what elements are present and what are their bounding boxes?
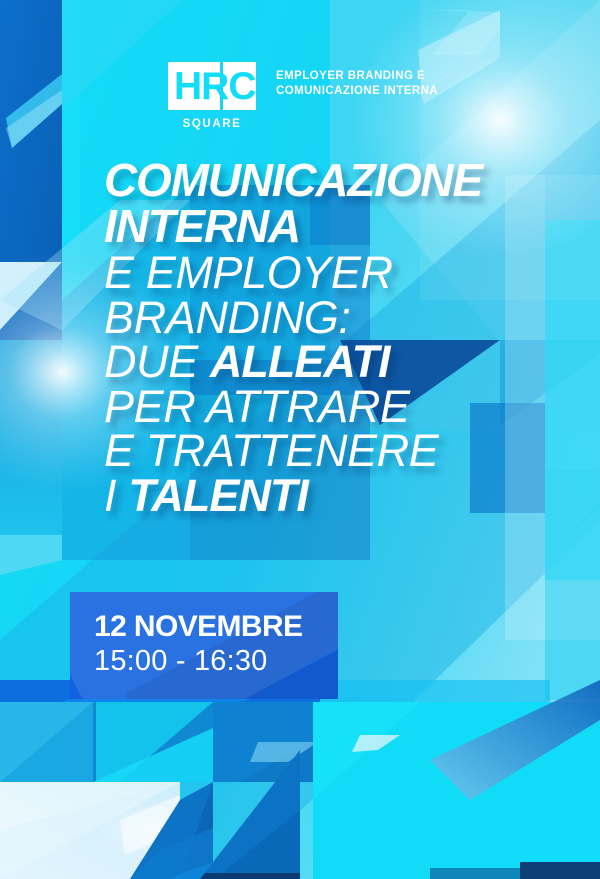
title-line-4: BRANDING: [104,296,524,341]
title-line-1: COMUNICAZIONE [104,158,524,204]
brand-tagline: EMPLOYER BRANDING E COMUNICAZIONE INTERN… [276,69,438,100]
hrc-square-logo: HRC SQUARE [168,62,256,130]
logo-subtitle: SQUARE [168,118,256,130]
event-poster: HRC SQUARE EMPLOYER BRANDING E COMUNICAZ… [0,0,600,879]
title-line-6: PER ATTRARE [104,385,524,430]
logo-icon: HRC [168,62,256,110]
title-line-8: I TALENTI [104,474,524,519]
title-line-8-strong: TALENTI [128,470,308,521]
title-line-7: E TRATTENERE [104,429,524,474]
title-line-5-prefix: DUE [104,336,210,387]
title-line-5: DUE ALLEATI [104,340,524,385]
poster-header: HRC SQUARE EMPLOYER BRANDING E COMUNICAZ… [168,62,438,130]
title-line-3: E EMPLOYER [104,251,524,296]
title-line-5-strong: ALLEATI [210,336,390,387]
event-time: 15:00 - 16:30 [94,644,338,678]
tagline-line-1: EMPLOYER BRANDING E [276,69,438,84]
tagline-line-2: COMUNICAZIONE INTERNA [276,84,438,99]
event-date: 12 NOVEMBRE [94,611,338,643]
title-line-8-prefix: I [104,470,128,521]
logo-letters: HRC [168,62,256,110]
poster-title: COMUNICAZIONE INTERNA E EMPLOYER BRANDIN… [104,158,524,518]
event-date-box: 12 NOVEMBRE 15:00 - 16:30 [70,592,338,699]
title-line-2: INTERNA [104,204,524,250]
date-box-text: 12 NOVEMBRE 15:00 - 16:30 [70,592,338,678]
